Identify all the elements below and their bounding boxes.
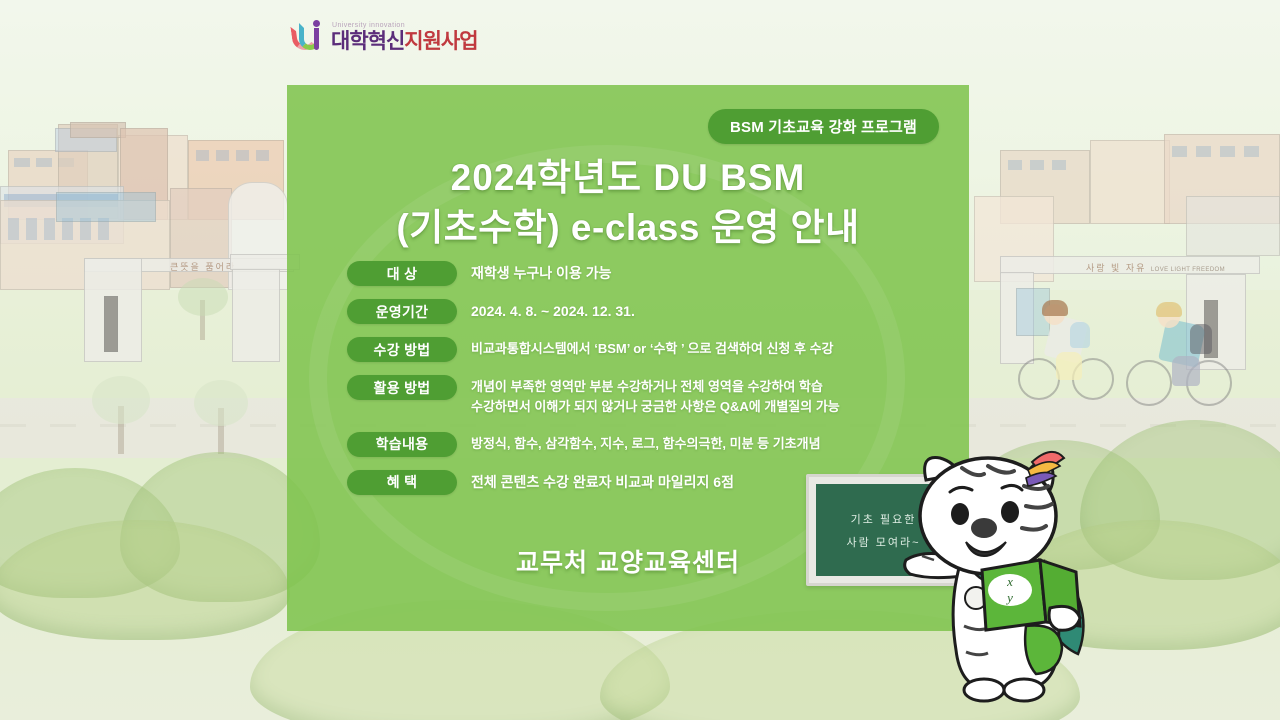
cyclist-right bbox=[1126, 300, 1246, 424]
building bbox=[1186, 196, 1280, 256]
eye-left bbox=[951, 503, 969, 525]
cyclist-legs bbox=[1172, 356, 1200, 386]
book-label-y: y bbox=[1005, 590, 1013, 605]
building bbox=[170, 188, 232, 288]
poster-title: 2024학년도 DU BSM (기초수학) e-class 운영 안내 bbox=[287, 153, 969, 252]
bicycle-wheel bbox=[1018, 358, 1060, 400]
info-label-period: 운영기간 bbox=[347, 299, 457, 324]
info-label-benefit: 혜 택 bbox=[347, 470, 457, 495]
poster-title-line1: 2024학년도 DU BSM bbox=[287, 153, 969, 203]
book-label-x: x bbox=[1006, 574, 1013, 589]
cyclist-backpack bbox=[1190, 324, 1212, 354]
building-window bbox=[196, 150, 209, 161]
info-value-usage-method: 개념이 부족한 영역만 부분 수강하거나 전체 영역을 수강하여 학습 수강하면… bbox=[471, 375, 840, 417]
right-gate-text-en: LOVE LIGHT FREEDOM bbox=[1151, 267, 1225, 273]
info-row-target: 대 상 재학생 누구나 이용 가능 bbox=[347, 261, 957, 286]
building-window bbox=[8, 218, 19, 240]
info-rows: 대 상 재학생 누구나 이용 가능 운영기간 2024. 4. 8. ~ 202… bbox=[347, 261, 957, 508]
left-gate-plaque bbox=[104, 296, 118, 352]
info-row-usage-method: 활용 방법 개념이 부족한 영역만 부분 수강하거나 전체 영역을 수강하여 학… bbox=[347, 375, 957, 417]
building-window bbox=[1030, 160, 1044, 170]
header-logo-bar: University innovation 대학혁신지원사업 bbox=[0, 0, 1280, 70]
logo-title-ko: 대학혁신지원사업 bbox=[331, 31, 478, 52]
info-value-curriculum: 방정식, 함수, 삼각함수, 지수, 로그, 함수의극한, 미분 등 기초개념 bbox=[471, 432, 821, 454]
building-window bbox=[44, 218, 55, 240]
nose bbox=[971, 518, 997, 538]
cyclist-hair bbox=[1042, 300, 1068, 316]
info-line: 개념이 부족한 영역만 부분 수강하거나 전체 영역을 수강하여 학습 bbox=[471, 377, 840, 397]
building-window bbox=[256, 150, 269, 161]
left-gate-text: 큰뜻을 품어라 bbox=[170, 260, 236, 273]
bicycle-wheel bbox=[1126, 360, 1172, 406]
info-line: 재학생 누구나 이용 가능 bbox=[471, 263, 611, 284]
info-label-target: 대 상 bbox=[347, 261, 457, 286]
building-window bbox=[1052, 160, 1066, 170]
building-window bbox=[14, 158, 30, 167]
info-value-enrollment-method: 비교과통합시스템에서 ‘BSM’ or ‘수학 ’ 으로 검색하여 신청 후 수… bbox=[471, 337, 834, 359]
info-line: 2024. 4. 8. ~ 2024. 12. 31. bbox=[471, 301, 635, 322]
building-window bbox=[1196, 146, 1211, 157]
info-row-enrollment-method: 수강 방법 비교과통합시스템에서 ‘BSM’ or ‘수학 ’ 으로 검색하여 … bbox=[347, 337, 957, 362]
info-label-usage-method: 활용 방법 bbox=[347, 375, 457, 400]
foot-left bbox=[964, 679, 1004, 701]
building bbox=[56, 192, 156, 222]
eye-right bbox=[1001, 501, 1019, 523]
building-window bbox=[1008, 160, 1022, 170]
building-window bbox=[36, 158, 52, 167]
cyclist-hair bbox=[1156, 302, 1182, 317]
building-window bbox=[26, 218, 37, 240]
info-label-curriculum: 학습내용 bbox=[347, 432, 457, 457]
building-window bbox=[236, 150, 249, 161]
university-innovation-logo: University innovation 대학혁신지원사업 bbox=[292, 16, 478, 52]
building-window bbox=[216, 150, 229, 161]
building bbox=[1090, 140, 1170, 224]
cyclist-backpack bbox=[1070, 322, 1090, 348]
logo-subtitle-en: University innovation bbox=[332, 22, 478, 29]
poster-title-line2: (기초수학) e-class 운영 안내 bbox=[287, 203, 969, 253]
left-gate-pillar bbox=[232, 268, 280, 362]
white-tiger-mascot: x y bbox=[900, 440, 1130, 720]
cyclist-legs bbox=[1056, 352, 1082, 380]
building-window bbox=[1220, 146, 1235, 157]
info-value-target: 재학생 누구나 이용 가능 bbox=[471, 261, 611, 284]
tree-foliage bbox=[194, 380, 248, 426]
tree-foliage bbox=[92, 376, 150, 424]
info-row-period: 운영기간 2024. 4. 8. ~ 2024. 12. 31. bbox=[347, 299, 957, 324]
info-label-enrollment-method: 수강 방법 bbox=[347, 337, 457, 362]
building-tower bbox=[70, 122, 126, 138]
building-window bbox=[1172, 146, 1187, 157]
paw-right bbox=[1049, 606, 1080, 630]
info-row-curriculum: 학습내용 방정식, 함수, 삼각함수, 지수, 로그, 함수의극한, 미분 등 … bbox=[347, 432, 957, 457]
cyclist-left bbox=[1016, 296, 1126, 416]
info-value-period: 2024. 4. 8. ~ 2024. 12. 31. bbox=[471, 299, 635, 322]
info-line: 수강하면서 이해가 되지 않거나 궁금한 사항은 Q&A에 개별질의 가능 bbox=[471, 397, 840, 417]
u-j-logo-mark-icon bbox=[292, 16, 326, 52]
info-line: 전체 콘텐츠 수강 완료자 비교과 마일리지 6점 bbox=[471, 472, 734, 493]
info-value-benefit: 전체 콘텐츠 수강 완료자 비교과 마일리지 6점 bbox=[471, 470, 734, 493]
tree-foliage bbox=[178, 278, 228, 316]
logo-wordmark: University innovation 대학혁신지원사업 bbox=[331, 22, 478, 52]
logo-title-part2: 지원사업 bbox=[404, 30, 477, 53]
program-badge: BSM 기초교육 강화 프로그램 bbox=[708, 109, 939, 144]
logo-title-part1: 대학혁신 bbox=[331, 30, 404, 53]
shorts bbox=[1025, 625, 1062, 674]
info-line: 방정식, 함수, 삼각함수, 지수, 로그, 함수의극한, 미분 등 기초개념 bbox=[471, 434, 821, 454]
building-window bbox=[1244, 146, 1259, 157]
foot-right bbox=[1004, 679, 1044, 701]
info-line: 비교과통합시스템에서 ‘BSM’ or ‘수학 ’ 으로 검색하여 신청 후 수… bbox=[471, 339, 834, 359]
right-gate-text-ko: 사랑 빛 자유 bbox=[1086, 263, 1146, 273]
right-gate-text: 사랑 빛 자유 LOVE LIGHT FREEDOM bbox=[1086, 261, 1225, 274]
